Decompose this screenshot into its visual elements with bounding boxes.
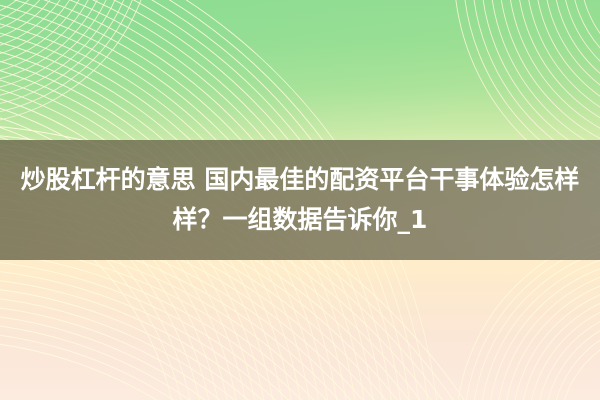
title-band: 炒股杠杆的意思 国内最佳的配资平台干事体验怎样 样？一组数据告诉你_1 <box>0 140 600 260</box>
title-line-2: 样？一组数据告诉你_1 <box>173 200 428 240</box>
title-line-1: 炒股杠杆的意思 国内最佳的配资平台干事体验怎样 <box>21 160 580 200</box>
banner-image: 炒股杠杆的意思 国内最佳的配资平台干事体验怎样 样？一组数据告诉你_1 <box>0 0 600 400</box>
